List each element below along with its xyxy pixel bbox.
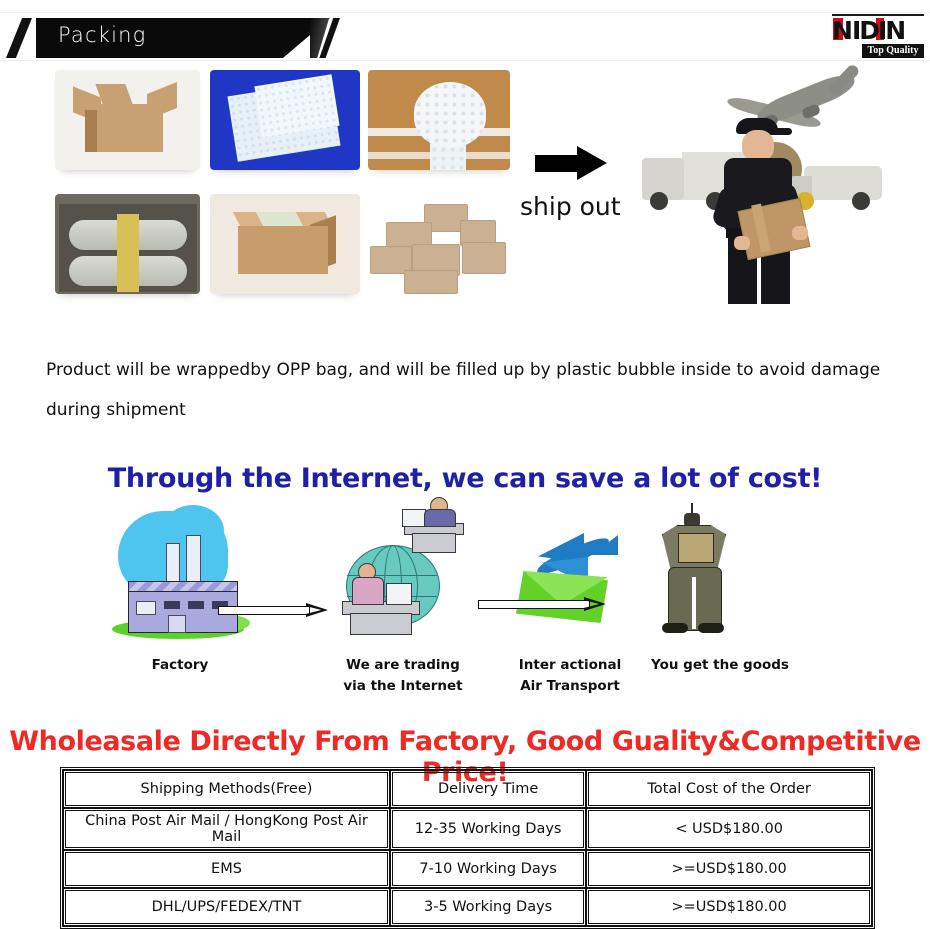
- packing-photo-grid: [50, 66, 520, 306]
- flow-label-trading-line1: We are trading: [328, 655, 478, 676]
- page-header: Packing NIDIN Top Quality: [0, 0, 930, 62]
- photo-bagged-goods-in-box: [55, 194, 200, 294]
- flow-label-air-line2: Air Transport: [490, 676, 650, 697]
- courier-hand-left: [734, 236, 750, 250]
- customer-parcel: [678, 533, 714, 563]
- customer-shoe-right: [698, 623, 724, 633]
- ship-out-arrow-icon: [535, 146, 607, 180]
- packing-description: Product will be wrappedby OPP bag, and w…: [46, 350, 896, 430]
- row-2-delivery: 3-5 Working Days: [390, 888, 586, 926]
- row-0-cost: < USD$180.00: [586, 808, 872, 850]
- trading-flow-diagram: Factory We are trading via the Internet: [110, 505, 830, 705]
- row-2-cost: >=USD$180.00: [586, 888, 872, 926]
- courier-scene: [628, 66, 878, 306]
- brand-logo: NIDIN Top Quality: [832, 14, 924, 60]
- flow-label-trading-line2: via the Internet: [328, 676, 478, 697]
- logo-letter-n-left: N: [832, 18, 852, 44]
- arrow-head: [577, 146, 607, 180]
- buyer-body: [352, 577, 384, 605]
- logo-wordmark: NIDIN: [832, 18, 924, 44]
- trader-desk-body: [412, 533, 456, 553]
- customer-head: [684, 513, 700, 527]
- internet-savings-heading: Through the Internet, we can save a lot …: [0, 463, 930, 494]
- van-wheel-rear: [852, 192, 870, 210]
- packing-page: Packing NIDIN Top Quality: [0, 0, 930, 920]
- sealed-carton-front: [238, 226, 328, 274]
- customer-leg-split: [692, 577, 696, 629]
- stacked-carton-6: [462, 242, 506, 274]
- shipping-table: Shipping Methods(Free) Delivery Time Tot…: [60, 767, 875, 929]
- courier-hand-right: [792, 226, 808, 240]
- factory-door: [168, 615, 186, 633]
- buyer-monitor: [386, 583, 412, 605]
- yellow-tape: [117, 214, 139, 292]
- bubble-roll-head: [414, 82, 486, 148]
- truck-wheel-front: [650, 192, 668, 210]
- row-0-method: China Post Air Mail / HongKong Post Air …: [63, 808, 390, 850]
- table-row: EMS 7-10 Working Days >=USD$180.00: [63, 850, 872, 888]
- flow-label-air-line1: Inter actional: [490, 655, 650, 676]
- flow-arrow-2-shaft: [478, 600, 590, 609]
- buyer-desk-body: [350, 613, 412, 635]
- shipping-table-wrapper: Shipping Methods(Free) Delivery Time Tot…: [60, 767, 875, 929]
- arrow-shaft: [535, 155, 581, 172]
- photo-sealed-carton: [210, 194, 360, 294]
- flow-step-trading: We are trading via the Internet: [328, 505, 478, 645]
- row-0-delivery: 12-35 Working Days: [390, 808, 586, 850]
- row-1-cost: >=USD$180.00: [586, 850, 872, 888]
- table-header-shipping-methods: Shipping Methods(Free): [63, 770, 390, 808]
- photo-stacked-cartons: [368, 194, 510, 294]
- flow-arrow-2-icon: [478, 597, 608, 611]
- flow-step-factory: Factory: [110, 505, 250, 645]
- table-header-total-cost: Total Cost of the Order: [586, 770, 872, 808]
- factory-window-2: [164, 601, 180, 609]
- flow-label-customer: You get the goods: [630, 655, 810, 676]
- customer-shoe-left: [662, 623, 688, 633]
- trader-laptop-top: [402, 509, 426, 527]
- factory-window-3: [188, 601, 204, 609]
- stacked-carton-7: [404, 270, 458, 294]
- logo-letters-middle: IDI: [852, 18, 885, 44]
- page-title: Packing: [58, 23, 146, 47]
- trader-body-top: [424, 509, 456, 527]
- carton-body: [85, 110, 163, 152]
- factory-window-1: [136, 601, 156, 615]
- carton-flap-top: [95, 84, 132, 104]
- logo-tagline: Top Quality: [862, 44, 924, 58]
- table-header-row: Shipping Methods(Free) Delivery Time Tot…: [63, 770, 872, 808]
- row-1-delivery: 7-10 Working Days: [390, 850, 586, 888]
- flow-label-factory: Factory: [110, 655, 250, 676]
- photo-bubble-wrap-sheet: [210, 70, 360, 170]
- ship-out-label: ship out: [520, 192, 621, 221]
- row-1-method: EMS: [63, 850, 390, 888]
- table-header-delivery-time: Delivery Time: [390, 770, 586, 808]
- van-body: [804, 166, 882, 200]
- header-slash-accent: [6, 18, 32, 58]
- table-row: DHL/UPS/FEDEX/TNT 3-5 Working Days >=USD…: [63, 888, 872, 926]
- photo-bubble-wrap-roll: [368, 70, 510, 170]
- row-2-method: DHL/UPS/FEDEX/TNT: [63, 888, 390, 926]
- logo-letter-n-right: N: [885, 18, 905, 44]
- header-bottom-rule: [0, 60, 930, 61]
- courier-person: [714, 118, 806, 304]
- photo-open-carton-box: [55, 70, 200, 170]
- table-row: China Post Air Mail / HongKong Post Air …: [63, 808, 872, 850]
- flow-step-customer: You get the goods: [650, 511, 790, 651]
- header-top-rule: [0, 12, 930, 13]
- flow-step-air-transport: Inter actional Air Transport: [500, 505, 640, 645]
- flow-arrow-1-shaft: [218, 606, 310, 615]
- flow-arrow-1-icon: [218, 603, 328, 617]
